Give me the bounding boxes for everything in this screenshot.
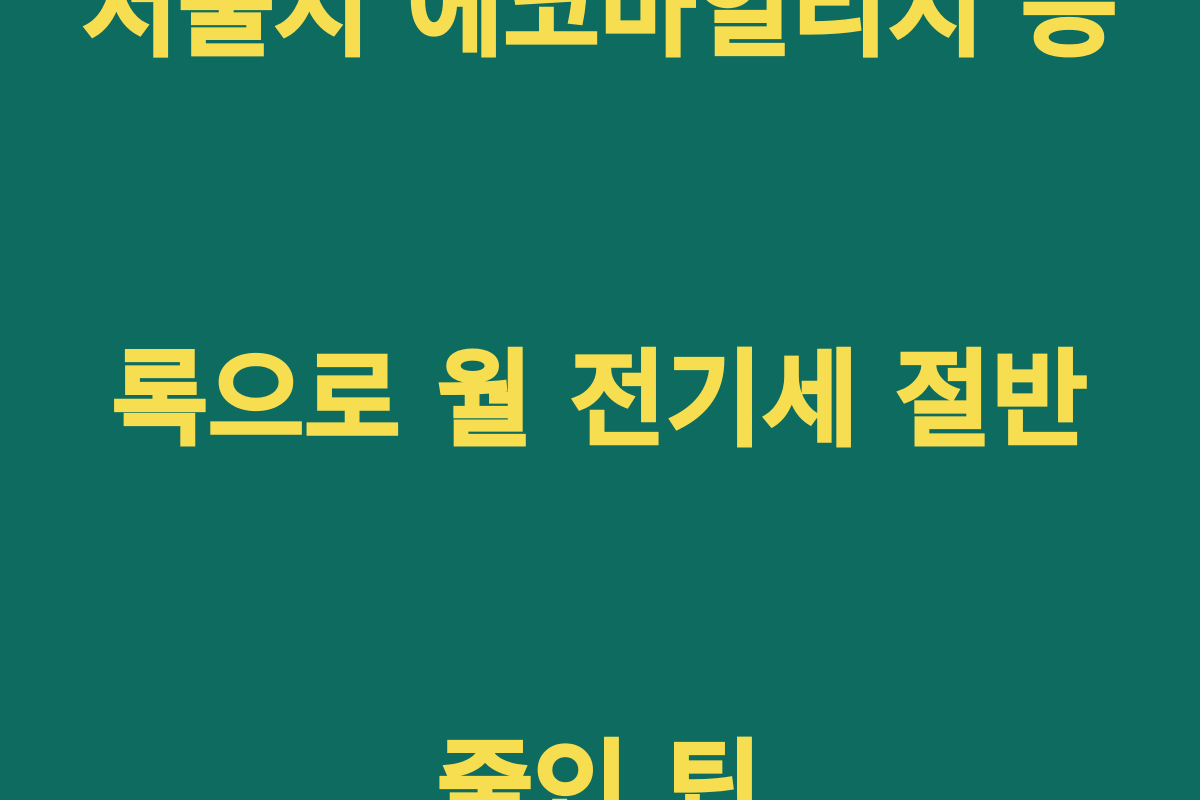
headline-line-2: 록으로 월 전기세 절반 [14, 335, 1186, 465]
thumbnail-canvas: 서울시 에코마일리지 등 록으로 월 전기세 절반 줄인 팁 [0, 0, 1200, 800]
headline-line-1: 서울시 에코마일리지 등 [14, 0, 1186, 75]
page-title: 서울시 에코마일리지 등 록으로 월 전기세 절반 줄인 팁 [0, 0, 1200, 800]
headline-line-3: 줄인 팁 [14, 725, 1186, 800]
